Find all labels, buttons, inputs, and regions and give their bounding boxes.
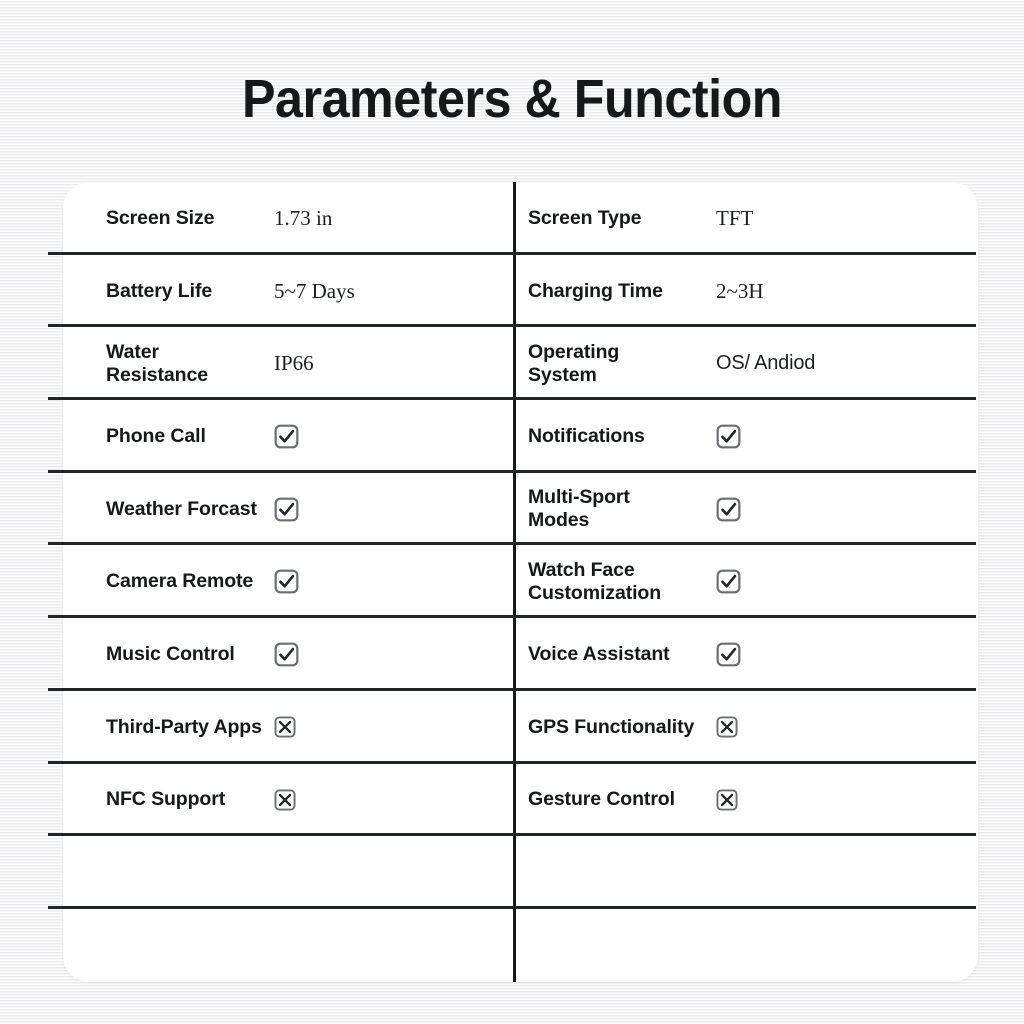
table-row: Weather ForcastMulti-Sport Modes <box>48 473 993 546</box>
table-row: Music ControlVoice Assistant <box>48 618 993 691</box>
table-row: Water ResistanceIP66Operating SystemOS/ … <box>48 327 993 400</box>
table-cell-left: NFC Support <box>48 764 513 837</box>
table-cell-left <box>48 836 513 909</box>
table-cell-right <box>513 836 993 909</box>
checkbox-checked-icon[interactable] <box>716 642 741 667</box>
spec-value: TFT <box>716 206 753 231</box>
table-cell-right: Screen TypeTFT <box>513 182 993 255</box>
table-cell-right: Notifications <box>513 400 993 473</box>
table-cell-right: Operating SystemOS/ Andiod <box>513 327 993 400</box>
spec-label: Watch Face Customization <box>528 559 716 605</box>
table-cell-right <box>513 909 993 982</box>
spec-value: 5~7 Days <box>274 279 355 304</box>
table-cell-left: Phone Call <box>48 400 513 473</box>
table-cell-left: Water ResistanceIP66 <box>48 327 513 400</box>
spec-label: Camera Remote <box>106 570 274 593</box>
spec-label: Voice Assistant <box>528 643 716 666</box>
table-cell-left: Weather Forcast <box>48 473 513 546</box>
spec-label: Multi-Sport Modes <box>528 486 716 532</box>
table-row: Battery Life5~7 DaysCharging Time2~3H <box>48 255 993 328</box>
checkbox-checked-icon[interactable] <box>716 497 741 522</box>
spec-label: NFC Support <box>106 788 274 811</box>
table-row: Phone CallNotifications <box>48 400 993 473</box>
table-cell-right: Watch Face Customization <box>513 545 993 618</box>
spec-value: 2~3H <box>716 279 764 304</box>
spec-label: GPS Functionality <box>528 716 716 739</box>
checkbox-crossed-icon[interactable] <box>274 716 296 738</box>
checkbox-checked-icon[interactable] <box>274 642 299 667</box>
checkbox-checked-icon[interactable] <box>274 497 299 522</box>
table-cell-right: Voice Assistant <box>513 618 993 691</box>
checkbox-checked-icon[interactable] <box>274 569 299 594</box>
table-row <box>48 909 993 982</box>
checkbox-crossed-icon[interactable] <box>716 716 738 738</box>
table-row: Third-Party AppsGPS Functionality <box>48 691 993 764</box>
spec-label: Phone Call <box>106 425 274 448</box>
spec-label: Charging Time <box>528 280 716 303</box>
specifications-table: Screen Size1.73 inScreen TypeTFTBattery … <box>48 182 993 982</box>
spec-label: Music Control <box>106 643 274 666</box>
spec-value: 1.73 in <box>274 206 332 231</box>
checkbox-crossed-icon[interactable] <box>274 789 296 811</box>
table-row <box>48 836 993 909</box>
checkbox-checked-icon[interactable] <box>274 424 299 449</box>
table-row: NFC SupportGesture Control <box>48 764 993 837</box>
table-cell-right: Gesture Control <box>513 764 993 837</box>
table-cell-right: GPS Functionality <box>513 691 993 764</box>
spec-label: Battery Life <box>106 280 274 303</box>
spec-label: Notifications <box>528 425 716 448</box>
table-cell-left <box>48 909 513 982</box>
checkbox-checked-icon[interactable] <box>716 424 741 449</box>
table-row: Screen Size1.73 inScreen TypeTFT <box>48 182 993 255</box>
spec-label: Gesture Control <box>528 788 716 811</box>
table-cell-left: Screen Size1.73 in <box>48 182 513 255</box>
spec-label: Weather Forcast <box>106 498 274 521</box>
table-row: Camera RemoteWatch Face Customization <box>48 545 993 618</box>
spec-label: Third-Party Apps <box>106 716 274 739</box>
spec-value: OS/ Andiod <box>716 352 815 375</box>
spec-label: Water Resistance <box>106 341 274 387</box>
spec-label: Operating System <box>528 341 716 387</box>
table-cell-right: Charging Time2~3H <box>513 255 993 328</box>
spec-value: IP66 <box>274 351 314 376</box>
page-title: Parameters & Function <box>36 72 988 126</box>
checkbox-crossed-icon[interactable] <box>716 789 738 811</box>
table-cell-left: Camera Remote <box>48 545 513 618</box>
spec-label: Screen Type <box>528 207 716 230</box>
table-cell-left: Third-Party Apps <box>48 691 513 764</box>
table-cell-left: Music Control <box>48 618 513 691</box>
checkbox-checked-icon[interactable] <box>716 569 741 594</box>
table-cell-left: Battery Life5~7 Days <box>48 255 513 328</box>
page-stage: Parameters & Function Screen Size1.73 in… <box>0 0 1024 1024</box>
spec-label: Screen Size <box>106 207 274 230</box>
table-cell-right: Multi-Sport Modes <box>513 473 993 546</box>
